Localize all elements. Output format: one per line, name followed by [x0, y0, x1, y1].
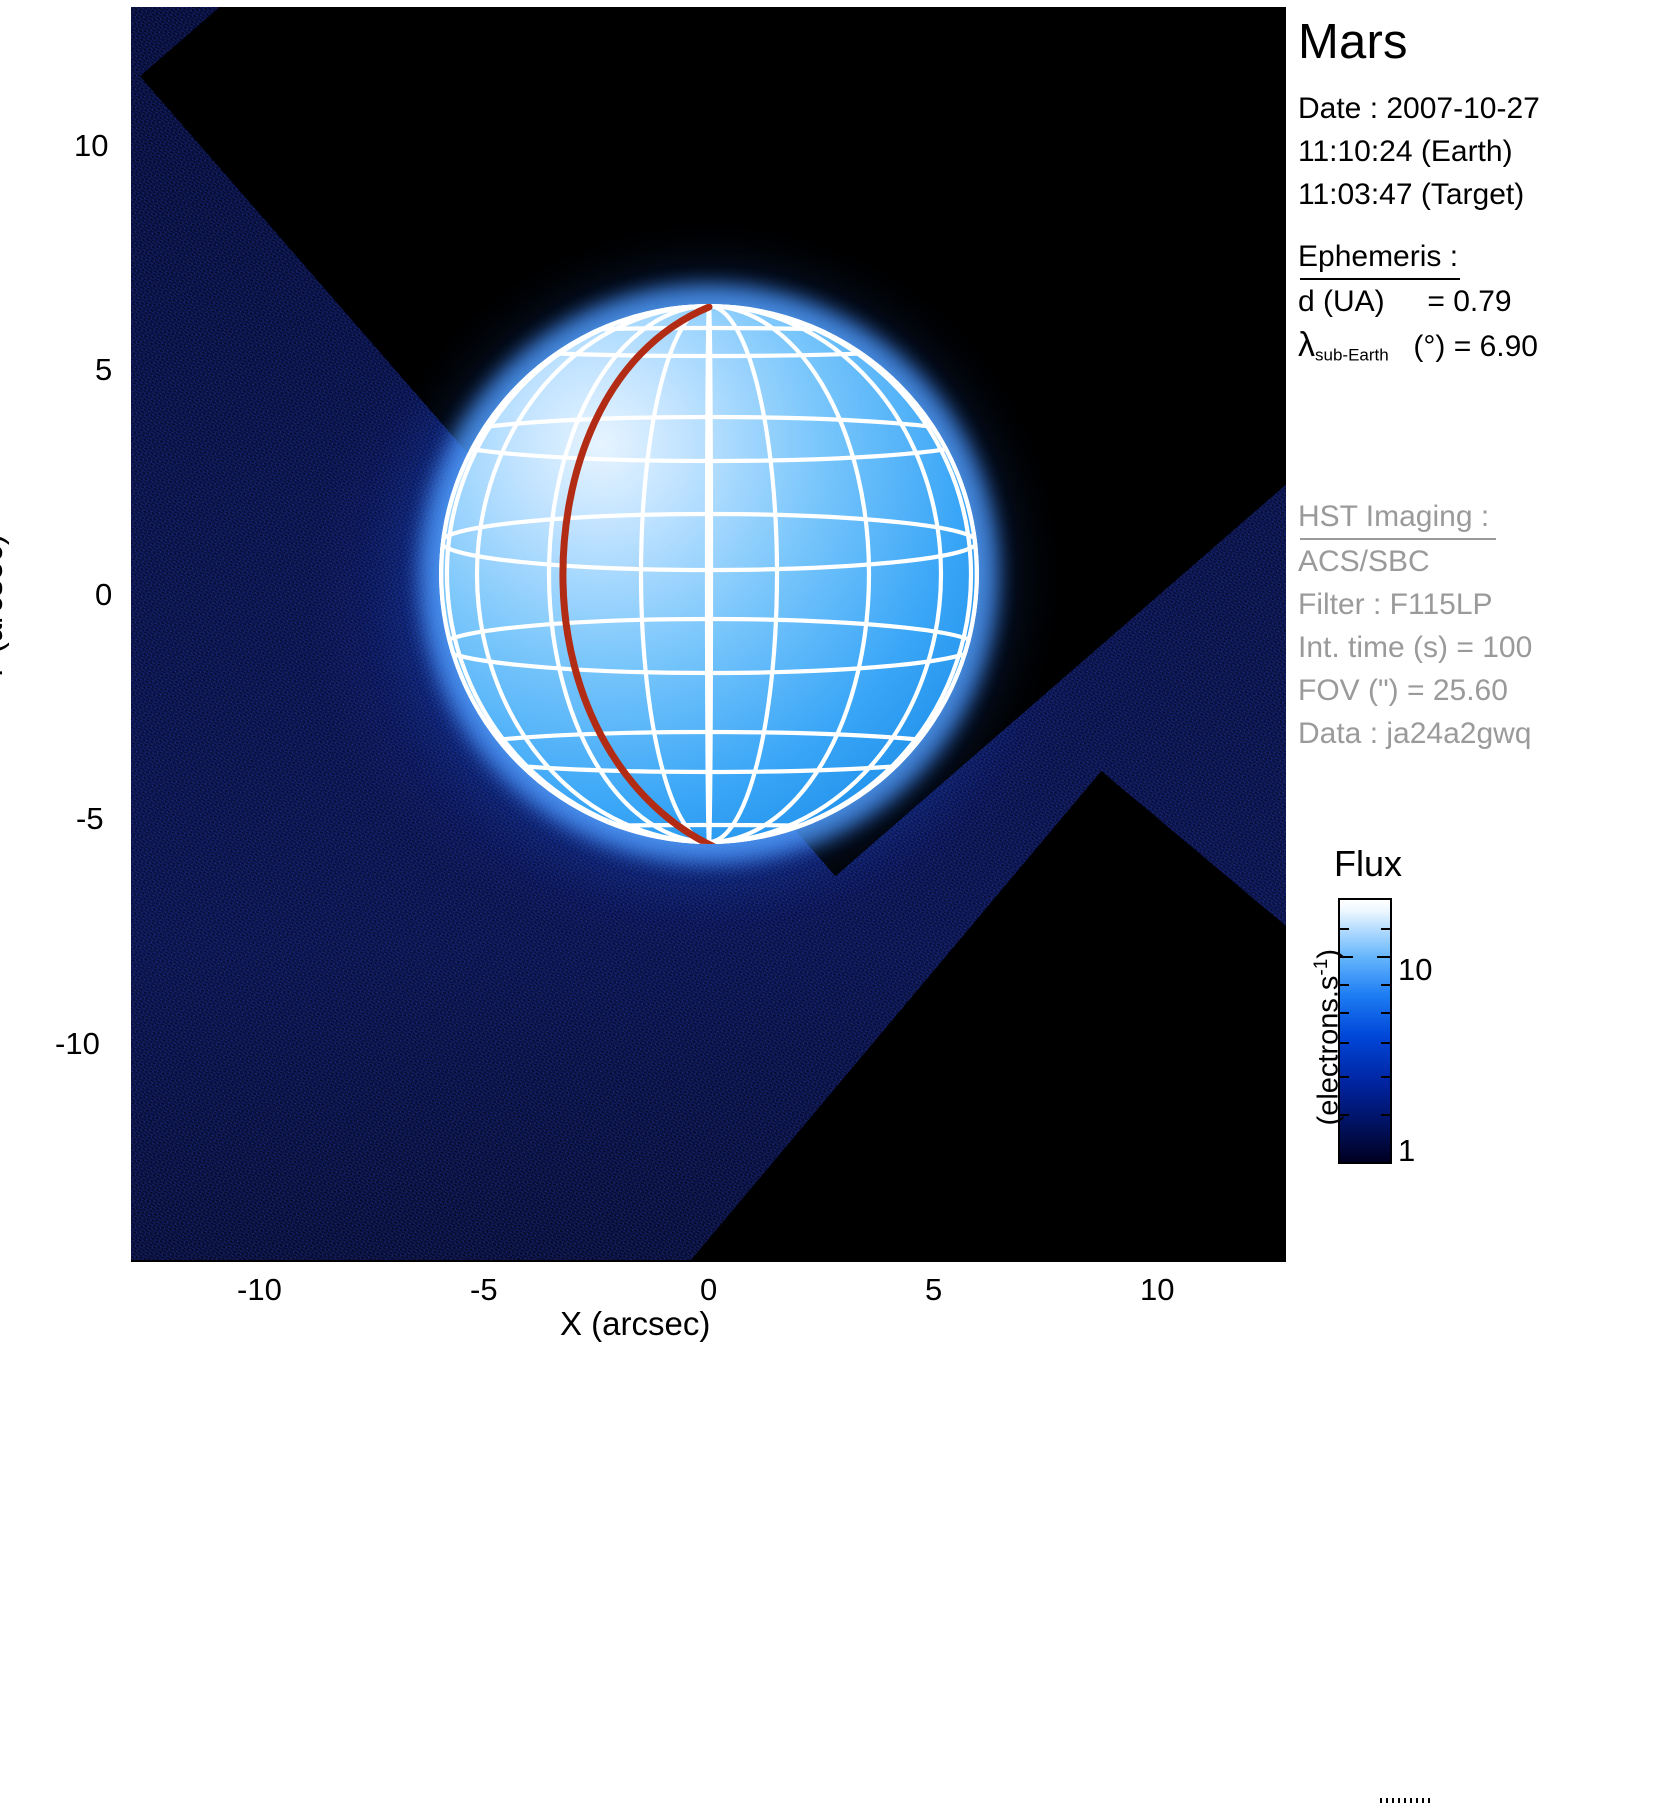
x-tick-neg5: -5 — [470, 1272, 498, 1308]
ephemeris-distance-row: d (UA) = 0.79 — [1298, 285, 1512, 319]
lat-lon-graticule — [131, 7, 1286, 1262]
figure-root: 10 5 0 -5 -10 Y (arcsec) -10 -5 0 5 10 X… — [0, 0, 1677, 1367]
x-axis-title: X (arcsec) — [560, 1305, 710, 1343]
colorbar-label-high: 10 — [1398, 952, 1432, 988]
y-tick-neg10: -10 — [55, 1026, 100, 1062]
metadata-panel: Mars Date : 2007-10-27 11:10:24 (Earth) … — [1298, 0, 1677, 1367]
colorbar-axis-title-exponent: -1 — [1311, 959, 1332, 976]
colorbar-tick-major-10 — [1377, 956, 1390, 958]
target-name-title: Mars — [1298, 14, 1408, 70]
colorbar-label-low: 1 — [1398, 1133, 1415, 1169]
instrument-underline — [1300, 538, 1496, 540]
observation-date: Date : 2007-10-27 — [1298, 92, 1540, 126]
x-tick-0: 0 — [700, 1272, 717, 1308]
y-tick-5: 5 — [95, 352, 112, 388]
colorbar-axis-title-main: (electrons.s — [1312, 976, 1344, 1126]
ephemeris-underline — [1300, 278, 1460, 280]
lambda-subscript: sub-Earth — [1315, 345, 1389, 364]
colorbar-title: Flux — [1334, 843, 1402, 885]
colorbar-tick — [1381, 928, 1390, 930]
instrument-fov: FOV (") = 25.60 — [1298, 674, 1508, 708]
colorbar-tick — [1381, 1012, 1390, 1014]
y-tick-10: 10 — [74, 128, 108, 164]
colorbar-gradient — [1338, 898, 1392, 1164]
ephemeris-heading: Ephemeris : — [1298, 240, 1458, 274]
observation-time-target: 11:03:47 (Target) — [1298, 178, 1524, 212]
y-axis-title: Y (arcsec) — [0, 534, 10, 684]
x-tick-5: 5 — [925, 1272, 942, 1308]
planet-overlay-group — [131, 7, 1286, 1262]
lambda-symbol: λ — [1298, 326, 1315, 364]
ephemeris-distance-value: = 0.79 — [1427, 285, 1511, 318]
colorbar-axis-title-close: ) — [1312, 949, 1344, 959]
instrument-detector: ACS/SBC — [1298, 545, 1430, 579]
x-tick-10: 10 — [1140, 1272, 1174, 1308]
instrument-int-time: Int. time (s) = 100 — [1298, 631, 1532, 665]
y-tick-neg5: -5 — [76, 801, 104, 837]
colorbar-tick — [1381, 1042, 1390, 1044]
colorbar-axis-title: (electrons.s-1) — [1311, 949, 1345, 1125]
ephemeris-distance-label: d (UA) — [1298, 285, 1385, 318]
colorbar-tick — [1381, 1114, 1390, 1116]
lambda-unit: (°) — [1413, 330, 1445, 363]
observation-time-earth: 11:10:24 (Earth) — [1298, 135, 1513, 169]
ephemeris-lambda-row: λsub-Earth (°) = 6.90 — [1298, 326, 1538, 365]
instrument-dataset: Data : ja24a2gwq — [1298, 717, 1532, 751]
colorbar-tick — [1340, 928, 1349, 930]
colorbar-top-minor-ticks — [1380, 1798, 1430, 1803]
colorbar-tick — [1381, 1076, 1390, 1078]
instrument-heading: HST Imaging : — [1298, 500, 1489, 534]
x-tick-neg10: -10 — [237, 1272, 282, 1308]
sky-image-panel — [131, 7, 1286, 1262]
y-tick-0: 0 — [95, 577, 112, 613]
colorbar-tick — [1381, 984, 1390, 986]
instrument-filter: Filter : F115LP — [1298, 588, 1493, 622]
lambda-value: = 6.90 — [1454, 330, 1538, 363]
